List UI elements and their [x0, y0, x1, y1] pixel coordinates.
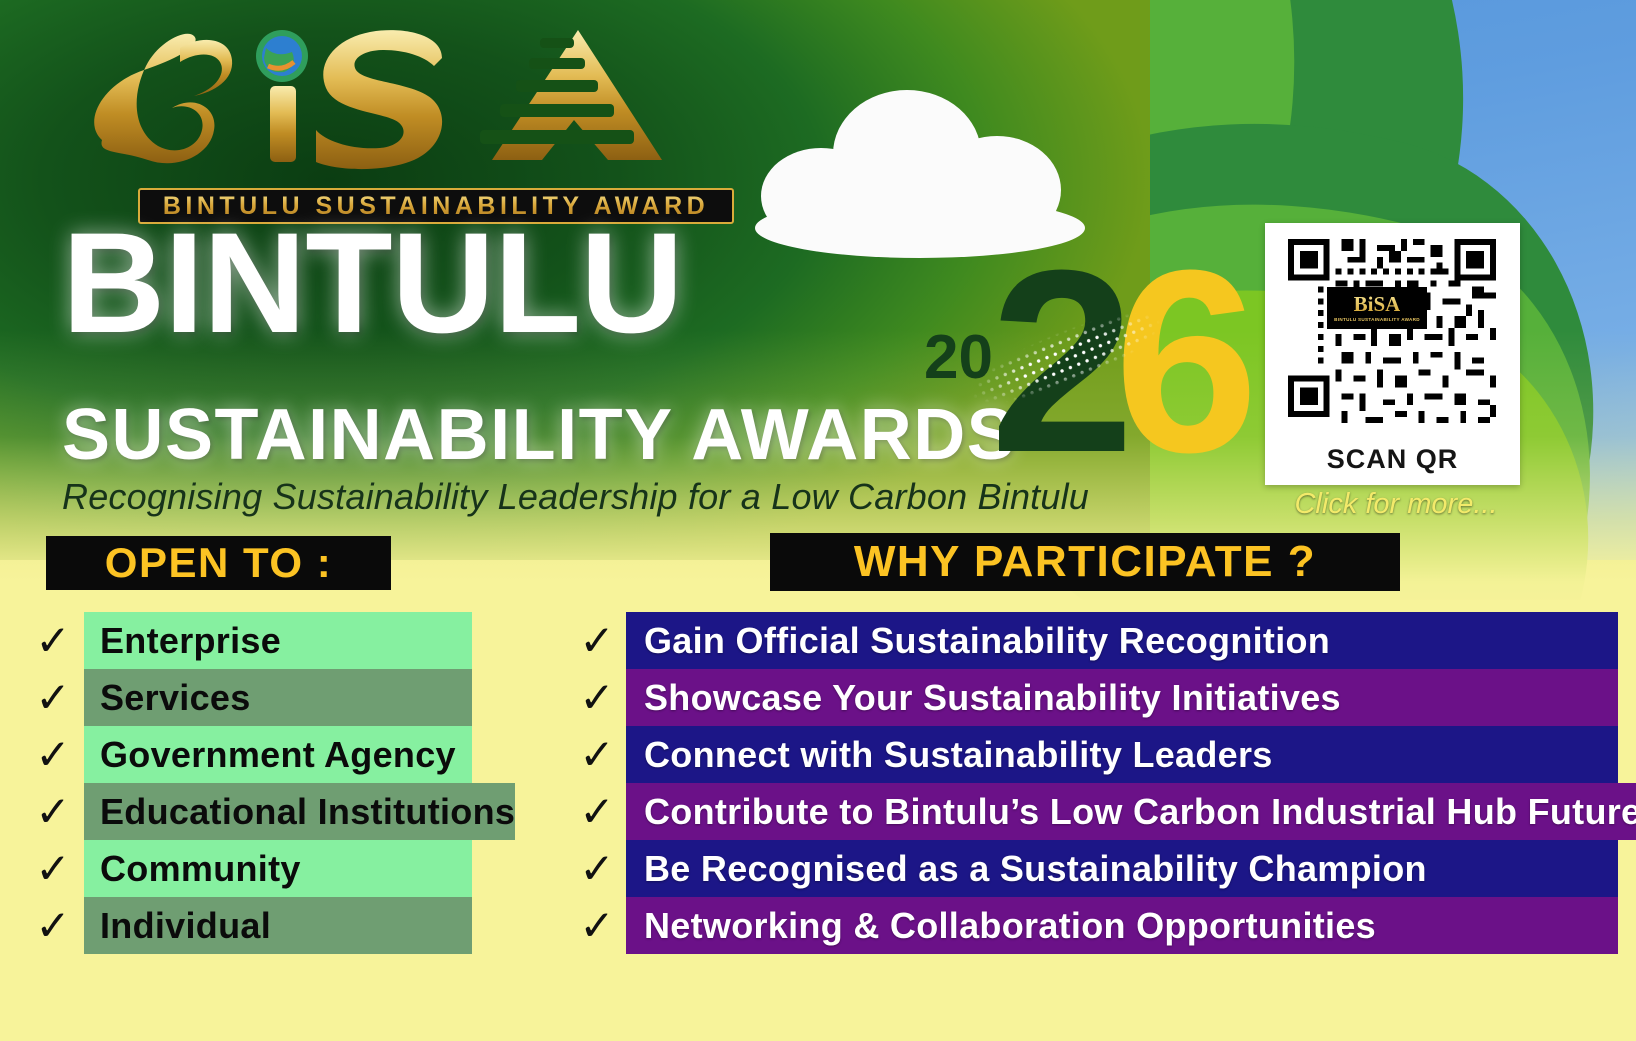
- year-prefix: 20: [924, 322, 993, 393]
- list-item-label: Enterprise: [100, 620, 281, 662]
- qr-label: SCAN QR: [1265, 444, 1520, 475]
- why-participate-header: WHY PARTICIPATE ?: [770, 533, 1400, 591]
- list-item: ✓ Enterprise: [22, 612, 472, 669]
- bisa-logo: BINTULU SUSTAINABILITY AWARD: [72, 22, 672, 212]
- check-cell: ✓: [22, 783, 84, 840]
- list-item-bar: Networking & Collaboration Opportunities: [626, 897, 1618, 954]
- list-item-bar: Educational Institutions: [84, 783, 515, 840]
- poster-root: BINTULU SUSTAINABILITY AWARD BINTULU SUS…: [0, 0, 1636, 1041]
- check-icon: ✓: [35, 848, 70, 890]
- check-cell: ✓: [22, 897, 84, 954]
- check-cell: ✓: [568, 783, 626, 840]
- list-item-bar: Enterprise: [84, 612, 472, 669]
- check-cell: ✓: [568, 726, 626, 783]
- list-item-label: Contribute to Bintulu’s Low Carbon Indus…: [644, 791, 1636, 833]
- check-icon: ✓: [579, 620, 614, 662]
- check-cell: ✓: [22, 840, 84, 897]
- check-cell: ✓: [22, 726, 84, 783]
- check-icon: ✓: [579, 734, 614, 776]
- page-title: BINTULU: [62, 218, 683, 350]
- check-icon: ✓: [579, 905, 614, 947]
- qr-embedded-logo-sub: BINTULU SUSTAINABILITY AWARD: [1334, 317, 1420, 322]
- open-to-header: OPEN TO :: [46, 536, 391, 590]
- check-icon: ✓: [579, 848, 614, 890]
- page-subtitle: SUSTAINABILITY AWARDS: [62, 394, 1016, 476]
- list-item: ✓ Services: [22, 669, 472, 726]
- list-item-label: Individual: [100, 905, 271, 947]
- list-item-label: Connect with Sustainability Leaders: [644, 734, 1273, 776]
- list-item-bar: Community: [84, 840, 472, 897]
- check-cell: ✓: [568, 669, 626, 726]
- check-cell: ✓: [568, 897, 626, 954]
- qr-embedded-logo-mark: BiSA: [1354, 294, 1401, 315]
- check-icon: ✓: [35, 677, 70, 719]
- qr-code-icon[interactable]: [1281, 233, 1503, 429]
- check-cell: ✓: [22, 612, 84, 669]
- why-participate-list: ✓ Gain Official Sustainability Recogniti…: [568, 612, 1618, 954]
- list-item-bar: Contribute to Bintulu’s Low Carbon Indus…: [626, 783, 1636, 840]
- list-item: ✓ Educational Institutions: [22, 783, 472, 840]
- list-item-bar: Gain Official Sustainability Recognition: [626, 612, 1618, 669]
- list-item-label: Networking & Collaboration Opportunities: [644, 905, 1376, 947]
- list-item: ✓ Be Recognised as a Sustainability Cham…: [568, 840, 1618, 897]
- list-item: ✓ Showcase Your Sustainability Initiativ…: [568, 669, 1618, 726]
- check-cell: ✓: [568, 840, 626, 897]
- list-item: ✓ Contribute to Bintulu’s Low Carbon Ind…: [568, 783, 1618, 840]
- check-cell: ✓: [22, 669, 84, 726]
- list-item: ✓ Gain Official Sustainability Recogniti…: [568, 612, 1618, 669]
- list-item-label: Showcase Your Sustainability Initiatives: [644, 677, 1341, 719]
- list-item-label: Government Agency: [100, 734, 456, 776]
- year-digit-six: 6: [1114, 232, 1259, 492]
- list-item-label: Educational Institutions: [100, 791, 515, 833]
- open-to-list: ✓ Enterprise ✓ Services ✓ Government Age…: [22, 612, 472, 954]
- list-item: ✓ Networking & Collaboration Opportuniti…: [568, 897, 1618, 954]
- why-participate-header-text: WHY PARTICIPATE ?: [854, 537, 1316, 587]
- list-item: ✓ Community: [22, 840, 472, 897]
- list-item: ✓ Individual: [22, 897, 472, 954]
- list-item-bar: Be Recognised as a Sustainability Champi…: [626, 840, 1618, 897]
- check-cell: ✓: [568, 612, 626, 669]
- list-item: ✓ Connect with Sustainability Leaders: [568, 726, 1618, 783]
- check-icon: ✓: [579, 677, 614, 719]
- qr-embedded-logo: BiSA BINTULU SUSTAINABILITY AWARD: [1327, 287, 1427, 329]
- open-to-header-text: OPEN TO :: [105, 539, 332, 587]
- bisa-logo-mark: [72, 22, 672, 172]
- check-icon: ✓: [35, 620, 70, 662]
- list-item-bar: Government Agency: [84, 726, 472, 783]
- qr-click-for-more-link[interactable]: Click for more...: [1265, 488, 1527, 521]
- year-digit-two: 2: [990, 232, 1135, 492]
- list-item-bar: Connect with Sustainability Leaders: [626, 726, 1618, 783]
- list-item-label: Gain Official Sustainability Recognition: [644, 620, 1330, 662]
- list-item: ✓ Government Agency: [22, 726, 472, 783]
- list-item-label: Community: [100, 848, 301, 890]
- check-icon: ✓: [35, 734, 70, 776]
- list-item-bar: Individual: [84, 897, 472, 954]
- year-graphic: 6 2 20: [918, 236, 1218, 506]
- list-item-label: Services: [100, 677, 251, 719]
- qr-code-card[interactable]: BiSA BINTULU SUSTAINABILITY AWARD SCAN Q…: [1265, 223, 1520, 485]
- list-item-bar: Services: [84, 669, 472, 726]
- check-icon: ✓: [35, 791, 70, 833]
- check-icon: ✓: [35, 905, 70, 947]
- list-item-bar: Showcase Your Sustainability Initiatives: [626, 669, 1618, 726]
- check-icon: ✓: [579, 791, 614, 833]
- list-item-label: Be Recognised as a Sustainability Champi…: [644, 848, 1427, 890]
